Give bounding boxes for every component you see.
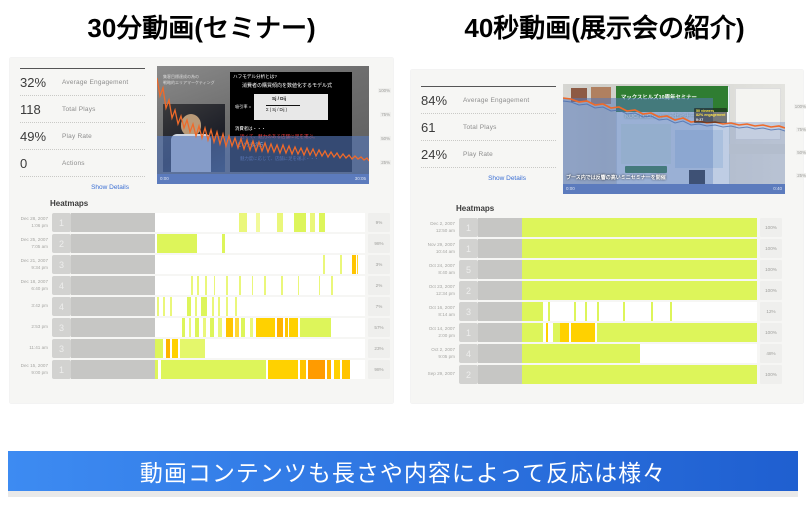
- right-video-timebar[interactable]: 0:00 0:40: [563, 184, 785, 194]
- heatmap-date-time: 11:41 am: [10, 345, 48, 351]
- stat-value: 49%: [20, 129, 62, 144]
- heatmap-segment: [352, 255, 355, 274]
- heatmap-segment: [319, 276, 321, 295]
- right-panel-wrap: 84% Average Engagement 61 Total Plays 24…: [403, 52, 806, 452]
- heatmap-percent: 2%: [368, 276, 390, 295]
- heatmap-date: Oct 16, 20078:14 am: [411, 302, 459, 321]
- heatmap-count-badge: 2: [459, 365, 478, 384]
- summary-banner: 動画コンテンツも長さや内容によって反応は様々: [8, 451, 798, 491]
- heatmap-segment: [310, 213, 314, 232]
- heatmap-segment: [163, 297, 165, 316]
- heatmap-segment: [197, 276, 199, 295]
- engagement-line: [563, 84, 785, 184]
- heatmap-segment: [191, 276, 193, 295]
- show-details-link[interactable]: Show Details: [421, 168, 556, 182]
- heatmap-count-badge: 1: [52, 360, 71, 379]
- stat-row-play-rate: 24% Play Rate: [421, 141, 556, 168]
- heatmap-segment: [214, 276, 216, 295]
- heatmap-date: Oct 14, 20072:00 pm: [411, 323, 459, 342]
- right-stats-list: 84% Average Engagement 61 Total Plays 24…: [411, 70, 566, 200]
- heatmap-segment: [170, 297, 172, 316]
- stat-value: 84%: [421, 93, 463, 108]
- heatmap-date: 11:41 am: [10, 339, 52, 358]
- heatmap-segment: [166, 339, 170, 358]
- heatmap-segment: [226, 318, 232, 337]
- heatmap-row[interactable]: Oct 23, 200712:34 pm2100%: [411, 281, 803, 300]
- right-top-section: 84% Average Engagement 61 Total Plays 24…: [411, 70, 803, 200]
- heatmap-count-badge: 3: [52, 339, 71, 358]
- heatmap-segment: [268, 360, 297, 379]
- heatmap-segment: [235, 297, 237, 316]
- heatmap-bar[interactable]: [522, 218, 757, 237]
- heatmap-count-badge: 3: [52, 255, 71, 274]
- heatmap-placeholder-block: [71, 318, 155, 337]
- heatmap-segment: [340, 255, 342, 274]
- heatmap-count-badge: 4: [52, 276, 71, 295]
- heatmap-segment: [155, 213, 365, 232]
- heatmap-date: Dec 25, 20077:05 am: [10, 234, 52, 253]
- heatmap-segment: [289, 318, 297, 337]
- heatmap-segment: [522, 239, 757, 258]
- heatmap-row[interactable]: Dec 21, 20079:34 pm33%: [10, 255, 393, 274]
- heatmap-row[interactable]: Oct 2, 20079:05 pm448%: [411, 344, 803, 363]
- left-stats-list: 32% Average Engagement 118 Total Plays 4…: [10, 58, 155, 193]
- heatmap-date-time: 9:05 pm: [411, 354, 455, 360]
- left-axis-labels: 100% 75% 50% 25%: [371, 66, 391, 184]
- heatmap-row[interactable]: Dec 2, 200712:50 am1100%: [411, 218, 803, 237]
- heatmap-placeholder-block: [478, 218, 522, 237]
- engagement-tooltip: 50 viewers 82% engagement 0:27: [694, 108, 727, 123]
- heatmap-segment: [252, 276, 254, 295]
- heatmap-placeholder-block: [478, 260, 522, 279]
- heatmap-segment: [239, 213, 247, 232]
- heatmap-segment: [210, 318, 214, 337]
- heatmap-segment: [319, 213, 325, 232]
- right-heatmaps-title: Heatmaps: [456, 204, 803, 213]
- right-video-player[interactable]: マックスヒルズ10周年セミナー KUCHICOショートセミナー: [563, 84, 785, 194]
- stat-value: 118: [20, 102, 62, 117]
- heatmap-row[interactable]: 3:42 pm47%: [10, 297, 393, 316]
- heatmap-segment: [597, 323, 757, 342]
- heatmap-segment: [585, 302, 587, 321]
- heatmap-placeholder-block: [71, 297, 155, 316]
- left-heatmaps-title: Heatmaps: [50, 199, 393, 208]
- heatmap-segment: [522, 365, 757, 384]
- heatmap-date-time: 12:34 pm: [411, 291, 455, 297]
- heatmap-count-badge: 3: [52, 318, 71, 337]
- heatmap-date-time: 9:00 pm: [10, 370, 48, 376]
- heatmap-percent: 98%: [368, 360, 390, 379]
- heatmap-segment: [212, 297, 214, 316]
- left-video-timebar[interactable]: 0:00 30:05: [157, 174, 369, 184]
- heatmap-count-badge: 5: [459, 260, 478, 279]
- left-heatmap-rows: Dec 28, 20071:06 pm19%Dec 25, 20077:05 a…: [10, 213, 393, 379]
- heatmap-segment: [161, 360, 266, 379]
- heatmap-date: 2:53 pm: [10, 318, 52, 337]
- stat-value: 61: [421, 120, 463, 135]
- heatmap-segment: [300, 360, 306, 379]
- video-time-start: 0:00: [160, 176, 169, 181]
- heatmap-date-day: Sep 29, 2007: [411, 371, 455, 377]
- heatmap-segment: [277, 318, 283, 337]
- heatmap-row[interactable]: Oct 16, 20078:14 am312%: [411, 302, 803, 321]
- stat-row-avg-engagement: 32% Average Engagement: [20, 69, 145, 96]
- heatmap-placeholder-block: [71, 255, 155, 274]
- heatmap-placeholder-block: [71, 360, 155, 379]
- heatmap-segment: [553, 323, 560, 342]
- heatmap-date: Sep 29, 2007: [411, 365, 459, 384]
- heatmap-date-time: 2:53 pm: [10, 324, 48, 330]
- banner-shadow: [8, 491, 798, 497]
- stat-row-play-rate: 49% Play Rate: [20, 123, 145, 150]
- video-time-start: 0:00: [566, 186, 575, 191]
- heatmap-date-time: 10:44 am: [411, 249, 455, 255]
- stat-row-actions: 0 Actions: [20, 150, 145, 177]
- heatmap-placeholder-block: [71, 234, 155, 253]
- panels-row: 32% Average Engagement 118 Total Plays 4…: [0, 52, 806, 452]
- heatmap-count-badge: 2: [459, 281, 478, 300]
- heatmap-row[interactable]: Oct 14, 20072:00 pm1100%: [411, 323, 803, 342]
- heatmap-percent: 100%: [760, 281, 782, 300]
- heatmap-date-time: 8:40 am: [411, 270, 455, 276]
- left-top-section: 32% Average Engagement 118 Total Plays 4…: [10, 58, 393, 193]
- left-video-player[interactable]: 集客目標達成の為の戦略的エリアマーケティング ハフモデル分析とは? 消費者の購買…: [157, 66, 369, 184]
- heatmap-segment: [522, 281, 757, 300]
- heatmap-date: Dec 21, 20079:34 pm: [10, 255, 52, 274]
- heatmap-placeholder-block: [71, 339, 155, 358]
- stat-row-avg-engagement: 84% Average Engagement: [421, 87, 556, 114]
- heatmap-bar[interactable]: [522, 365, 757, 384]
- heatmap-segment: [357, 255, 359, 274]
- heatmap-bar[interactable]: [522, 281, 757, 300]
- heatmap-segment: [195, 297, 197, 316]
- right-video-caption: ブース内では反響の高いミニセミナーを開催: [566, 174, 666, 181]
- heatmap-segment: [522, 218, 757, 237]
- heatmap-bar[interactable]: [522, 344, 757, 363]
- heatmap-placeholder-block: [478, 302, 522, 321]
- heatmap-row[interactable]: Dec 28, 20071:06 pm19%: [10, 213, 393, 232]
- heatmap-segment: [331, 276, 333, 295]
- video-time-end: 30:05: [355, 176, 366, 181]
- heatmap-segment: [285, 318, 288, 337]
- heatmap-segment: [670, 302, 672, 321]
- heatmap-percent: 57%: [368, 318, 390, 337]
- heatmap-row[interactable]: 2:53 pm357%: [10, 318, 393, 337]
- heatmap-bar[interactable]: [522, 302, 757, 321]
- heatmap-count-badge: 2: [52, 234, 71, 253]
- heatmap-segment: [300, 318, 332, 337]
- heatmap-placeholder-block: [478, 239, 522, 258]
- heatmap-count-badge: 3: [459, 302, 478, 321]
- heatmap-bar[interactable]: [155, 234, 365, 253]
- heatmap-row[interactable]: Sep 29, 20072100%: [411, 365, 803, 384]
- heatmap-percent: 48%: [760, 344, 782, 363]
- heatmap-row[interactable]: Dec 25, 20077:05 am298%: [10, 234, 393, 253]
- heatmap-percent: 23%: [368, 339, 390, 358]
- heatmap-segment: [195, 318, 199, 337]
- tooltip-time: 0:27: [696, 118, 725, 122]
- heatmap-date-time: 2:00 pm: [411, 333, 455, 339]
- video-time-end: 0:40: [773, 186, 782, 191]
- heatmap-segment: [205, 276, 207, 295]
- heatmap-date-time: 1:06 pm: [10, 223, 48, 229]
- heatmap-segment: [327, 360, 331, 379]
- heatmap-segment: [157, 297, 159, 316]
- heatmap-segment: [277, 213, 283, 232]
- heatmap-date: 3:42 pm: [10, 297, 52, 316]
- heatmap-segment: [201, 297, 207, 316]
- heatmap-segment: [187, 297, 191, 316]
- heatmap-segment: [182, 318, 185, 337]
- heatmap-segment: [574, 302, 576, 321]
- axis-label-50: 50%: [380, 136, 391, 141]
- right-heatmap-rows: Dec 2, 200712:50 am1100%Nov 29, 200710:4…: [411, 218, 803, 384]
- heatmap-percent: 9%: [368, 213, 390, 232]
- stat-label: Play Rate: [62, 133, 92, 140]
- heatmap-row[interactable]: Oct 24, 20078:40 am5100%: [411, 260, 803, 279]
- left-panel-title: 30分動画(セミナー): [0, 0, 403, 52]
- heatmap-segment: [323, 255, 325, 274]
- heatmap-segment: [222, 234, 225, 253]
- heatmap-segment: [264, 276, 266, 295]
- stat-label: Average Engagement: [463, 97, 529, 104]
- left-panel-wrap: 32% Average Engagement 118 Total Plays 4…: [0, 52, 403, 452]
- axis-label-100: 100%: [794, 104, 806, 109]
- axis-label-75: 75%: [380, 112, 391, 117]
- axis-label-25: 25%: [380, 160, 391, 165]
- heatmap-placeholder-block: [478, 365, 522, 384]
- axis-label-25: 25%: [796, 173, 806, 178]
- heatmap-segment: [548, 302, 550, 321]
- heatmap-segment: [235, 318, 239, 337]
- heatmap-bar[interactable]: [522, 323, 757, 342]
- heatmap-date-time: 3:42 pm: [10, 303, 48, 309]
- heatmap-percent: 100%: [760, 218, 782, 237]
- heatmap-segment: [522, 344, 640, 363]
- heatmap-date-time: 9:34 pm: [10, 265, 48, 271]
- heatmap-segment: [155, 255, 365, 274]
- heatmap-bar[interactable]: [522, 260, 757, 279]
- heatmap-segment: [522, 260, 757, 279]
- heatmap-count-badge: 1: [52, 213, 71, 232]
- stat-row-total-plays: 118 Total Plays: [20, 96, 145, 123]
- heatmap-segment: [571, 323, 595, 342]
- heatmap-segment: [239, 276, 241, 295]
- stat-label: Total Plays: [463, 124, 497, 131]
- right-analytics-panel: 84% Average Engagement 61 Total Plays 24…: [411, 70, 803, 403]
- titles-row: 30分動画(セミナー) 40秒動画(展示会の紹介): [0, 0, 806, 52]
- heatmap-percent: 100%: [760, 365, 782, 384]
- heatmap-count-badge: 1: [459, 239, 478, 258]
- stat-row-total-plays: 61 Total Plays: [421, 114, 556, 141]
- stat-value: 32%: [20, 75, 62, 90]
- right-axis-labels: 100% 75% 50% 25%: [787, 84, 806, 194]
- heatmap-row[interactable]: 11:41 am323%: [10, 339, 393, 358]
- heatmap-date: Nov 29, 200710:44 am: [411, 239, 459, 258]
- engagement-line: [157, 66, 369, 174]
- heatmap-percent: 3%: [368, 255, 390, 274]
- heatmap-date-time: 6:40 pm: [10, 286, 48, 292]
- heatmap-date: Oct 2, 20079:05 pm: [411, 344, 459, 363]
- heatmap-count-badge: 1: [459, 323, 478, 342]
- heatmap-segment: [203, 318, 206, 337]
- heatmap-segment: [155, 339, 163, 358]
- heatmap-bar[interactable]: [522, 239, 757, 258]
- heatmap-segment: [155, 360, 158, 379]
- heatmap-date-time: 8:14 am: [411, 312, 455, 318]
- heatmap-segment: [522, 323, 543, 342]
- stat-value: 0: [20, 156, 62, 171]
- heatmap-segment: [218, 297, 220, 316]
- heatmap-segment: [172, 339, 178, 358]
- heatmap-segment: [155, 276, 365, 295]
- heatmap-segment: [256, 318, 275, 337]
- heatmap-row[interactable]: Dec 18, 20076:40 pm42%: [10, 276, 393, 295]
- axis-label-100: 100%: [378, 88, 391, 93]
- heatmap-segment: [522, 302, 543, 321]
- heatmap-placeholder-block: [478, 344, 522, 363]
- heatmap-segment: [560, 323, 569, 342]
- heatmap-count-badge: 4: [52, 297, 71, 316]
- heatmap-bar[interactable]: [155, 339, 365, 358]
- heatmap-segment: [546, 323, 549, 342]
- heatmap-segment: [522, 302, 757, 321]
- heatmap-segment: [180, 339, 205, 358]
- heatmap-segment: [250, 318, 253, 337]
- heatmap-date: Oct 24, 20078:40 am: [411, 260, 459, 279]
- heatmap-row[interactable]: Nov 29, 200710:44 am1100%: [411, 239, 803, 258]
- heatmap-percent: 98%: [368, 234, 390, 253]
- right-heatmaps-section: Heatmaps Dec 2, 200712:50 am1100%Nov 29,…: [411, 200, 803, 384]
- stat-label: Play Rate: [463, 151, 493, 158]
- heatmap-placeholder-block: [71, 213, 155, 232]
- heatmap-segment: [334, 360, 340, 379]
- heatmap-segment: [294, 213, 307, 232]
- heatmap-percent: 7%: [368, 297, 390, 316]
- heatmap-bar[interactable]: [155, 255, 365, 274]
- heatmap-segment: [308, 360, 325, 379]
- heatmap-count-badge: 4: [459, 344, 478, 363]
- heatmap-segment: [623, 302, 625, 321]
- heatmap-date: Dec 18, 20076:40 pm: [10, 276, 52, 295]
- heatmap-segment: [241, 318, 245, 337]
- heatmap-date: Dec 2, 200712:50 am: [411, 218, 459, 237]
- heatmap-percent: 100%: [760, 323, 782, 342]
- heatmap-segment: [298, 276, 300, 295]
- axis-label-50: 50%: [796, 150, 806, 155]
- heatmap-segment: [157, 234, 197, 253]
- heatmap-date: Dec 15, 20079:00 pm: [10, 360, 52, 379]
- heatmap-date: Oct 23, 200712:34 pm: [411, 281, 459, 300]
- slide-root: 30分動画(セミナー) 40秒動画(展示会の紹介) 32% Average En…: [0, 0, 806, 505]
- heatmap-bar[interactable]: [155, 297, 365, 316]
- heatmap-date-time: 7:05 am: [10, 244, 48, 250]
- heatmap-segment: [597, 302, 599, 321]
- heatmap-date-time: 12:50 am: [411, 228, 455, 234]
- heatmap-date: Dec 28, 20071:06 pm: [10, 213, 52, 232]
- heatmap-percent: 100%: [760, 239, 782, 258]
- heatmap-placeholder-block: [71, 276, 155, 295]
- stat-label: Total Plays: [62, 106, 96, 113]
- left-heatmaps-section: Heatmaps Dec 28, 20071:06 pm19%Dec 25, 2…: [10, 193, 393, 379]
- heatmap-segment: [226, 297, 228, 316]
- left-analytics-panel: 32% Average Engagement 118 Total Plays 4…: [10, 58, 393, 403]
- stat-label: Average Engagement: [62, 79, 128, 86]
- heatmap-count-badge: 1: [459, 218, 478, 237]
- heatmap-bar[interactable]: [155, 318, 365, 337]
- heatmap-bar[interactable]: [155, 213, 365, 232]
- heatmap-segment: [218, 318, 222, 337]
- heatmap-row[interactable]: Dec 15, 20079:00 pm198%: [10, 360, 393, 379]
- stat-value: 24%: [421, 147, 463, 162]
- heatmap-segment: [256, 213, 260, 232]
- heatmap-percent: 12%: [760, 302, 782, 321]
- heatmap-bar[interactable]: [155, 276, 365, 295]
- heatmap-segment: [189, 318, 191, 337]
- axis-label-75: 75%: [796, 127, 806, 132]
- show-details-link[interactable]: Show Details: [20, 177, 145, 191]
- heatmap-percent: 100%: [760, 260, 782, 279]
- heatmap-bar[interactable]: [155, 360, 365, 379]
- heatmap-segment: [226, 276, 228, 295]
- summary-banner-text: 動画コンテンツも長さや内容によって反応は様々: [140, 454, 666, 488]
- heatmap-placeholder-block: [478, 323, 522, 342]
- heatmap-placeholder-block: [478, 281, 522, 300]
- right-panel-title: 40秒動画(展示会の紹介): [403, 0, 806, 52]
- heatmap-segment: [651, 302, 653, 321]
- stat-label: Actions: [62, 160, 85, 167]
- heatmap-segment: [342, 360, 350, 379]
- heatmap-segment: [281, 276, 283, 295]
